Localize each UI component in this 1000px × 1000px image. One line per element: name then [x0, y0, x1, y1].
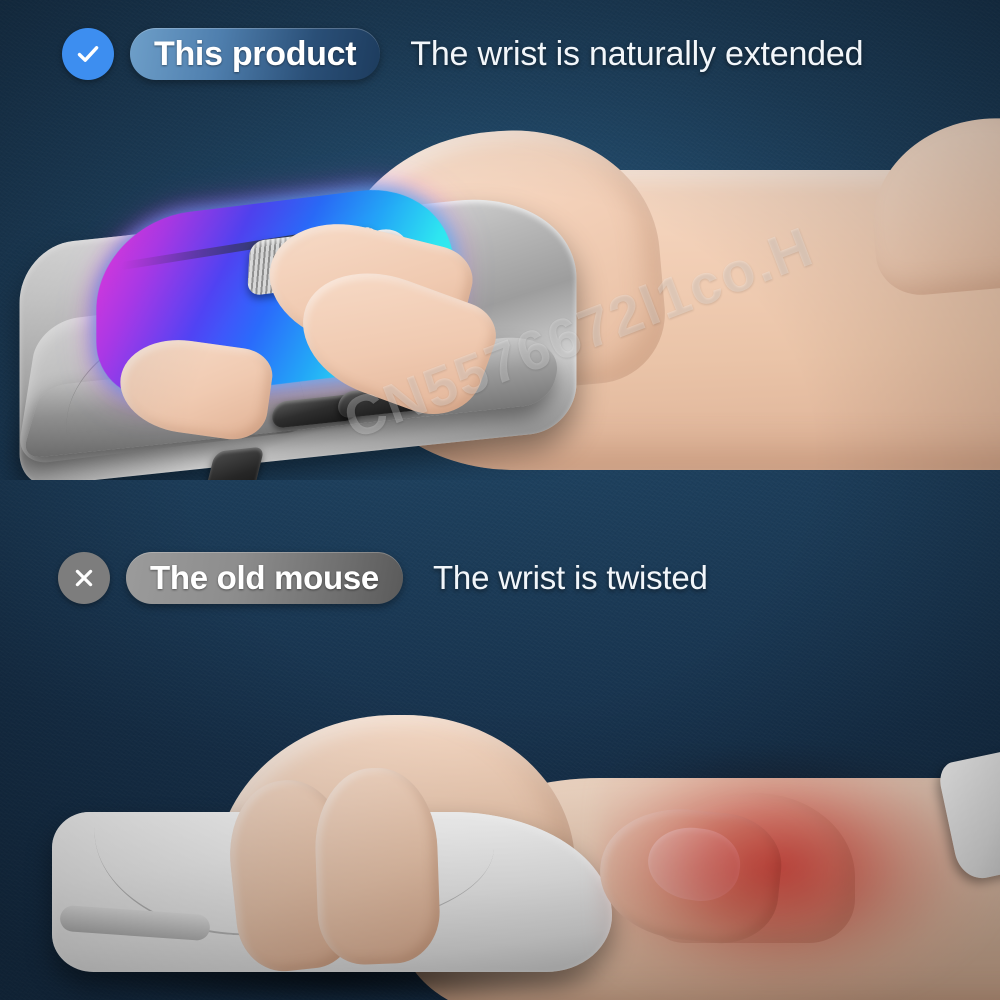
headline-wrist-extended: The wrist is naturally extended: [410, 35, 863, 74]
product-comparison-page: CN5576672l1co.H This product The wrist i…: [0, 0, 1000, 1000]
photo-ergonomic-mouse-in-hand: [0, 110, 1000, 480]
headline-wrist-twisted: The wrist is twisted: [433, 559, 708, 597]
check-icon: [62, 28, 114, 80]
middle-finger-flat: [313, 766, 442, 966]
label-row-old-mouse: The old mouse The wrist is twisted: [58, 552, 708, 604]
pill-this-product: This product: [130, 28, 380, 80]
pill-this-product-label: This product: [154, 35, 356, 74]
knuckles: [865, 110, 1000, 299]
photo-old-mouse-in-hand: [0, 660, 1000, 1000]
wrist-pain-heat-glow: [600, 752, 1000, 1000]
cross-icon: [58, 552, 110, 604]
pill-old-mouse-label: The old mouse: [150, 559, 379, 597]
label-row-this-product: This product The wrist is naturally exte…: [62, 28, 863, 80]
pill-old-mouse: The old mouse: [126, 552, 403, 604]
